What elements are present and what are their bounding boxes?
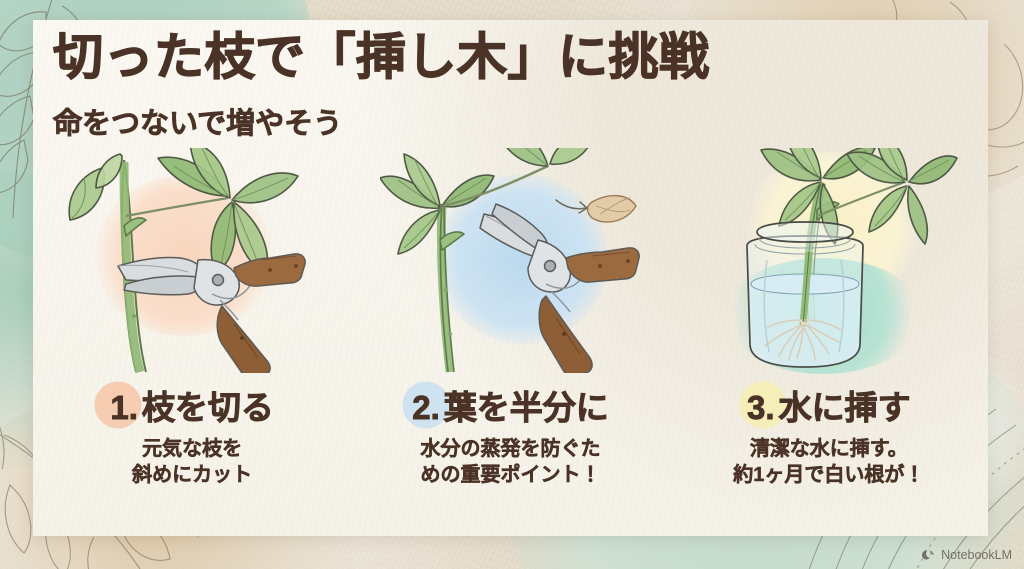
jar-with-rooting-cutting-icon xyxy=(699,148,959,373)
step-1-illustration xyxy=(62,148,322,373)
step-3-desc-line-2: 約1ヶ月で白い根が！ xyxy=(733,462,924,488)
page-subtitle: 命をつないで増やそう xyxy=(53,100,342,142)
notebooklm-logo-icon xyxy=(921,549,936,562)
step-1-heading: 1.枝を切る xyxy=(110,379,274,431)
cut-leaf-piece xyxy=(588,196,637,222)
shears-trimming-leaf-icon xyxy=(380,148,640,373)
step-2-description: 水分の蒸発を防ぐた めの重要ポイント！ xyxy=(420,436,600,489)
arrow-right-icon xyxy=(556,200,587,213)
step-1-desc-line-2: 斜めにカット xyxy=(132,462,252,488)
page-title: 切った枝で「挿し木」に挑戦 xyxy=(53,29,710,85)
step-1: 1.枝を切る 元気な枝を 斜めにカット xyxy=(33,140,351,536)
step-2-number: 2. xyxy=(412,389,440,426)
step-3-heading: 3.水に挿す xyxy=(747,379,911,431)
step-2-heading: 2.葉を半分に xyxy=(412,379,609,431)
watermark-label: NotebookLM xyxy=(941,548,1012,562)
step-3: 3.水に挿す 清潔な水に挿す。 約1ヶ月で白い根が！ xyxy=(670,140,988,536)
step-1-description: 元気な枝を 斜めにカット xyxy=(132,436,252,489)
step-1-title: 枝を切る xyxy=(142,389,274,426)
step-1-number: 1. xyxy=(110,389,138,426)
slide-card: 切った枝で「挿し木」に挑戦 命をつないで増やそう xyxy=(33,20,988,536)
step-3-desc-line-1: 清潔な水に挿す。 xyxy=(733,436,924,462)
step-2-title-row: 2.葉を半分に xyxy=(412,381,609,429)
shears-cutting-stem-icon xyxy=(62,148,322,373)
step-2-title: 葉を半分に xyxy=(444,389,609,426)
step-2-desc-line-2: めの重要ポイント！ xyxy=(420,462,600,488)
step-3-title: 水に挿す xyxy=(779,389,911,426)
step-2-desc-line-1: 水分の蒸発を防ぐた xyxy=(420,436,600,462)
step-1-title-row: 1.枝を切る xyxy=(110,381,274,429)
watermark: NotebookLM xyxy=(921,548,1012,562)
steps-row: 1.枝を切る 元気な枝を 斜めにカット xyxy=(33,140,988,536)
step-3-title-row: 3.水に挿す xyxy=(747,381,911,429)
step-3-number: 3. xyxy=(747,389,775,426)
step-1-desc-line-1: 元気な枝を xyxy=(132,436,252,462)
step-2: 2.葉を半分に 水分の蒸発を防ぐた めの重要ポイント！ xyxy=(351,140,669,536)
slide-canvas: 切った枝で「挿し木」に挑戦 命をつないで増やそう xyxy=(0,0,1024,569)
step-2-illustration xyxy=(380,148,640,373)
step-3-description: 清潔な水に挿す。 約1ヶ月で白い根が！ xyxy=(733,436,924,489)
step-3-illustration xyxy=(699,148,959,373)
